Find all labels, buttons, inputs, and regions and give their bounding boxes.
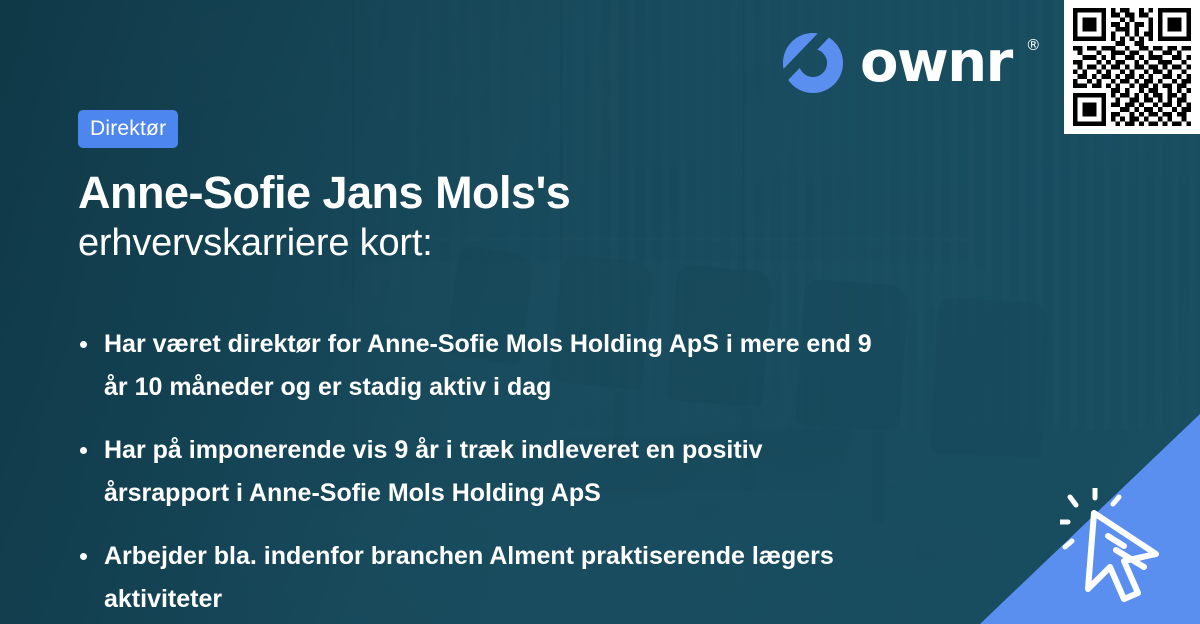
headline-line-1: Anne-Sofie Jans Mols's	[78, 170, 938, 217]
list-item: Har været direktør for Anne-Sofie Mols H…	[78, 323, 888, 409]
role-badge: Direktør	[78, 110, 178, 148]
ownr-circle-mark	[782, 32, 844, 94]
ownr-logo[interactable]: ownr ®	[782, 32, 1041, 94]
content-block: Direktør Anne-Sofie Jans Mols's erhvervs…	[78, 110, 938, 624]
headline-line-2: erhvervskarriere kort:	[78, 223, 938, 265]
ownr-wordmark: ownr	[860, 35, 1012, 91]
promo-card: ownr ® Direktør Anne-Sofie Jans Mols's e…	[0, 0, 1200, 624]
qr-code[interactable]	[1073, 8, 1191, 126]
click-cursor-icon	[1060, 488, 1188, 606]
registered-trademark-icon: ®	[1026, 38, 1041, 53]
career-bullet-list: Har været direktør for Anne-Sofie Mols H…	[78, 323, 938, 621]
list-item: Har på imponerende vis 9 år i træk indle…	[78, 429, 888, 515]
list-item: Arbejder bla. indenfor branchen Alment p…	[78, 535, 888, 621]
qr-code-panel[interactable]	[1064, 0, 1200, 134]
